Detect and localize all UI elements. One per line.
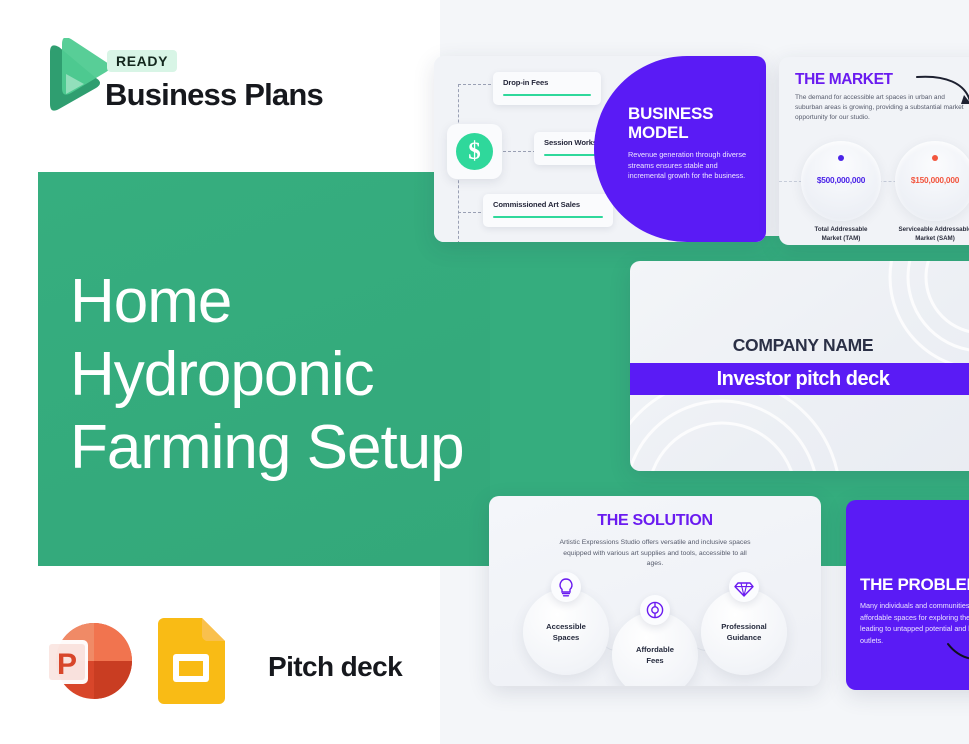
play-triangle-logo-icon (40, 38, 110, 118)
target-icon (640, 595, 670, 625)
company-subtitle-band: Investor pitch deck (630, 363, 969, 395)
sam-caption: Serviceable Addressable Market (SAM) (887, 225, 969, 243)
sam-value: $150,000,000 (895, 175, 969, 185)
diamond-icon (729, 572, 759, 602)
slide-problem[interactable]: THE PROBLEM Many individuals and communi… (846, 500, 969, 690)
tam-value: $500,000,000 (801, 175, 881, 185)
powerpoint-icon: P (40, 618, 132, 704)
tam-caption: Total Addressable Market (TAM) (793, 225, 889, 243)
bm-item-label: Commissioned Art Sales (493, 200, 603, 209)
node3-line1: Professional (721, 622, 767, 631)
node1-line1: Accessible (546, 622, 586, 631)
tam-caption-line-1: Total Addressable (815, 226, 868, 233)
title-line-2: Hydroponic (70, 338, 500, 411)
bm-title: BUSINESS MODEL (628, 104, 753, 142)
slide-business-model[interactable]: $ Drop-in Fees Session Workshops Commiss… (434, 56, 766, 242)
slide-company-title[interactable]: COMPANY NAME Investor pitch deck (630, 261, 969, 471)
solution-body-text: Artistic Expressions Studio offers versa… (555, 538, 755, 570)
pitch-deck-label: Pitch deck (268, 651, 402, 683)
lightbulb-icon (551, 572, 581, 602)
bm-dollar-card: $ (447, 124, 502, 179)
solution-icon-badge (729, 572, 759, 602)
ready-badge: READY (107, 50, 177, 72)
problem-title: THE PROBLEM (860, 575, 969, 595)
brand-name: Business Plans (105, 77, 323, 113)
solution-node-label: Affordable Fees (612, 644, 698, 666)
bm-title-line-1: BUSINESS (628, 104, 713, 123)
market-title: THE MARKET (795, 71, 893, 89)
slide-market[interactable]: THE MARKET The demand for accessible art… (779, 57, 969, 245)
solution-node-label: Accessible Spaces (523, 621, 609, 643)
node2-line2: Fees (646, 656, 663, 665)
sam-caption-line-2: Market (SAM) (915, 235, 955, 242)
node1-line2: Spaces (553, 633, 580, 642)
solution-node-label: Professional Guidance (701, 621, 787, 643)
sam-dot-icon (932, 155, 938, 161)
sam-caption-line-1: Serviceable Addressable (898, 226, 969, 233)
market-metric-sam: $150,000,000 (895, 141, 969, 221)
company-name: COMPANY NAME (630, 335, 969, 356)
market-body-text: The demand for accessible art spaces in … (795, 93, 969, 123)
node2-line1: Affordable (636, 645, 674, 654)
google-slides-icon (152, 618, 237, 704)
page-title: Home Hydroponic Farming Setup (70, 265, 500, 484)
bm-connector-top (458, 84, 496, 85)
dollar-icon: $ (456, 133, 493, 170)
solution-title: THE SOLUTION (489, 512, 821, 530)
curved-arrow-icon (946, 640, 969, 666)
bm-item-label: Drop-in Fees (503, 78, 591, 87)
bm-body-text: Revenue generation through diverse strea… (628, 150, 753, 182)
tam-caption-line-2: Market (TAM) (822, 235, 861, 242)
brand-logo[interactable]: READY Business Plans (40, 38, 360, 128)
market-metric-tam: $500,000,000 (801, 141, 881, 221)
bm-revenue-item[interactable]: Commissioned Art Sales (483, 194, 613, 227)
node3-line2: Guidance (727, 633, 762, 642)
svg-text:P: P (57, 648, 77, 681)
tam-dot-icon (838, 155, 844, 161)
slide-solution[interactable]: THE SOLUTION Artistic Expressions Studio… (489, 496, 821, 686)
company-subtitle: Investor pitch deck (630, 363, 969, 395)
bm-connector-bottom (458, 212, 486, 213)
solution-icon-badge (551, 572, 581, 602)
bm-purple-panel: BUSINESS MODEL Revenue generation throug… (594, 56, 766, 242)
title-line-3: Farming Setup (70, 411, 500, 484)
bm-revenue-item[interactable]: Drop-in Fees (493, 72, 601, 105)
bm-title-line-2: MODEL (628, 123, 688, 142)
poster-canvas: READY Business Plans Home Hydroponic Far… (0, 0, 969, 744)
title-line-1: Home (70, 265, 500, 338)
solution-icon-badge (640, 595, 670, 625)
